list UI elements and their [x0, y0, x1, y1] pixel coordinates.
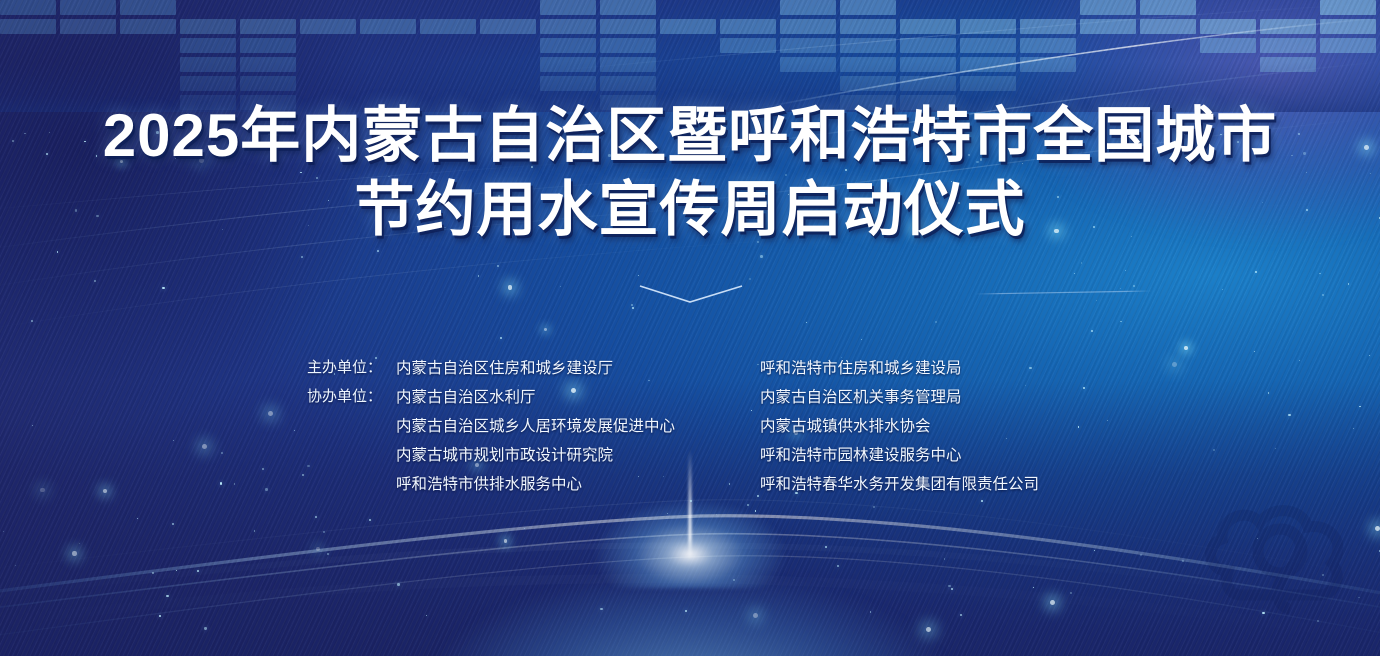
organizer-name: 呼和浩特春华水务开发集团有限责任公司	[760, 472, 1039, 494]
title-line-1: 2025年内蒙古自治区暨呼和浩特市全国城市	[0, 105, 1380, 167]
cohost-label: 协办单位：	[290, 385, 382, 406]
organizer-row: 呼和浩特市住房和城乡建设局	[760, 352, 1090, 381]
organizer-row: 内蒙古城镇供水排水协会	[760, 410, 1090, 439]
organizer-name: 内蒙古自治区住房和城乡建设厅	[382, 356, 613, 378]
diagonal-hatch-texture-2	[0, 0, 1380, 656]
organizer-name: 呼和浩特市园林建设服务中心	[760, 443, 962, 465]
organizer-name: 呼和浩特市住房和城乡建设局	[760, 356, 962, 378]
v-notch-divider	[0, 272, 1380, 308]
organizer-row: 呼和浩特市供排水服务中心	[290, 468, 760, 497]
organizer-name: 内蒙古城市规划市政设计研究院	[382, 443, 613, 465]
organizer-row: 呼和浩特春华水务开发集团有限责任公司	[760, 468, 1090, 497]
organizer-list: 主办单位： 内蒙古自治区住房和城乡建设厅 协办单位： 内蒙古自治区水利厅 内蒙古…	[0, 352, 1380, 497]
title-line-2: 节约用水宣传周启动仪式	[0, 179, 1380, 241]
poster-canvas: 2025年内蒙古自治区暨呼和浩特市全国城市 节约用水宣传周启动仪式	[0, 0, 1380, 656]
organizer-name: 呼和浩特市供排水服务中心	[382, 472, 582, 494]
organizer-right-column: 呼和浩特市住房和城乡建设局 内蒙古自治区机关事务管理局 内蒙古城镇供水排水协会 …	[760, 352, 1090, 497]
poster-title: 2025年内蒙古自治区暨呼和浩特市全国城市 节约用水宣传周启动仪式	[0, 105, 1380, 242]
organizer-name: 内蒙古自治区水利厅	[382, 385, 536, 407]
organizer-left-column: 主办单位： 内蒙古自治区住房和城乡建设厅 协办单位： 内蒙古自治区水利厅 内蒙古…	[290, 352, 760, 497]
organizer-name: 内蒙古城镇供水排水协会	[760, 414, 931, 436]
organizer-name: 内蒙古自治区城乡人居环境发展促进中心	[382, 414, 675, 436]
organizer-row: 主办单位： 内蒙古自治区住房和城乡建设厅	[290, 352, 760, 381]
host-label: 主办单位：	[290, 356, 382, 377]
organizer-row: 内蒙古自治区城乡人居环境发展促进中心	[290, 410, 760, 439]
organizer-row: 协办单位： 内蒙古自治区水利厅	[290, 381, 760, 410]
organizer-name: 内蒙古自治区机关事务管理局	[760, 385, 962, 407]
organizer-row: 内蒙古自治区机关事务管理局	[760, 381, 1090, 410]
organizer-row: 内蒙古城市规划市政设计研究院	[290, 439, 760, 468]
organizer-row: 呼和浩特市园林建设服务中心	[760, 439, 1090, 468]
